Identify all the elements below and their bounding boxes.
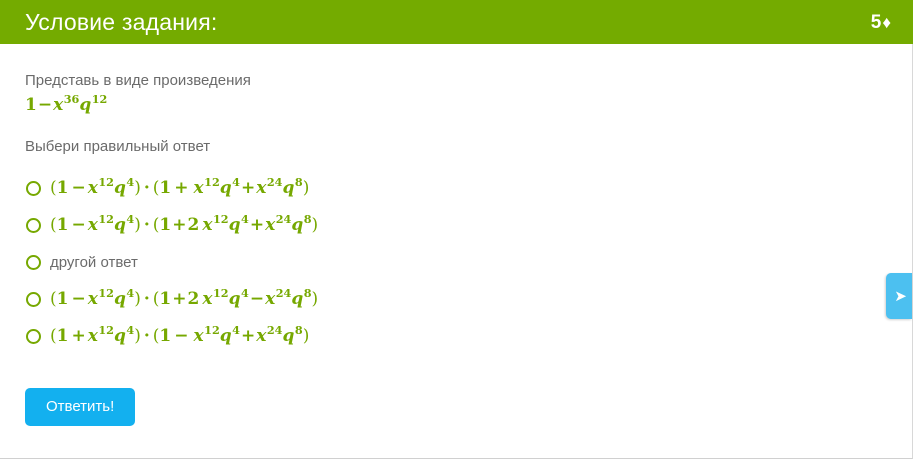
option-3-label: другой ответ — [50, 255, 138, 270]
submit-answer-button[interactable]: Ответить! — [25, 388, 135, 426]
o5-s-one: 1 — [159, 326, 171, 346]
o2-s-one: 1 — [159, 215, 171, 235]
o1-f-x-exp: 12 — [98, 175, 114, 189]
o4-f-one: 1 — [57, 289, 69, 309]
o2-s-x2-exp: 24 — [276, 212, 292, 226]
o5-dot: · — [141, 326, 153, 346]
o1-s-x1: x — [194, 178, 204, 198]
o2-s-x2: x — [265, 215, 275, 235]
o4-s-x1-exp: 12 — [213, 286, 229, 300]
answer-instruction: Выбери правильный ответ — [25, 136, 888, 158]
o2-s-coef: 2 — [188, 215, 203, 235]
o4-f-x-exp: 12 — [98, 286, 114, 300]
o4-f-q: q — [114, 289, 126, 309]
o4-s-q1: q — [229, 289, 241, 309]
o2-dot: · — [141, 215, 153, 235]
o2-f-one: 1 — [57, 215, 69, 235]
page-title: Условие задания: — [25, 11, 217, 34]
task-header-bar: Условие задания: 5♦ — [0, 0, 913, 44]
o2-s-q2: q — [291, 215, 303, 235]
o1-s-x2: x — [256, 178, 266, 198]
o4-s-coef: 2 — [188, 289, 203, 309]
o5-s-sign1: − — [171, 326, 190, 346]
arrow-right-icon: ➤ — [894, 289, 907, 304]
o2-s-x1: x — [202, 215, 212, 235]
answer-options-list: (1−x12q4)·(1+x12q4+x24q8) (1−x12q4)·(1+2… — [25, 170, 888, 354]
o2-f-sign: − — [68, 215, 87, 235]
o4-f-sign: − — [68, 289, 87, 309]
o1-s-q1: q — [220, 178, 232, 198]
o1-s-q2: q — [282, 178, 294, 198]
statement-minus: − — [37, 95, 53, 115]
o4-s-sign2: − — [249, 289, 265, 309]
score-value: 5 — [871, 12, 882, 33]
o5-s-q2-exp: 8 — [295, 323, 303, 337]
radio-button-icon[interactable] — [26, 292, 41, 307]
o2-s-q1-exp: 4 — [241, 212, 249, 226]
o4-dot: · — [141, 289, 153, 309]
o1-s-q1-exp: 4 — [232, 175, 240, 189]
o4-s-x2: x — [265, 289, 275, 309]
o4-s-sign1: + — [171, 289, 187, 309]
o2-s-sign1: + — [171, 215, 187, 235]
option-4-formula: (1−x12q4)·(1+2x12q4−x24q8) — [50, 290, 318, 309]
answer-option-5[interactable]: (1+x12q4)·(1−x12q4+x24q8) — [25, 318, 888, 354]
o2-s-sign2: + — [249, 215, 265, 235]
o1-f-sign: − — [68, 178, 87, 198]
o1-f-one: 1 — [57, 178, 69, 198]
task-prompt: Представь в виде произведения — [25, 70, 888, 92]
o2-s-q1: q — [229, 215, 241, 235]
o5-f-x: x — [88, 326, 98, 346]
radio-button-icon[interactable] — [26, 218, 41, 233]
diamond-icon: ♦ — [882, 13, 891, 32]
option-1-formula: (1−x12q4)·(1+x12q4+x24q8) — [50, 179, 309, 198]
o1-s-sign1: + — [171, 178, 190, 198]
o1-s-one: 1 — [159, 178, 171, 198]
o5-s-x1-exp: 12 — [204, 323, 220, 337]
o5-s-sign2: + — [240, 326, 256, 346]
option-2-formula: (1−x12q4)·(1+2x12q4+x24q8) — [50, 216, 318, 235]
o2-f-q: q — [114, 215, 126, 235]
o4-s-one: 1 — [159, 289, 171, 309]
answer-option-2[interactable]: (1−x12q4)·(1+2x12q4+x24q8) — [25, 207, 888, 243]
statement-x-exponent: 36 — [64, 92, 80, 106]
o1-s-x1-exp: 12 — [204, 175, 220, 189]
o5-s-x2-exp: 24 — [267, 323, 283, 337]
task-page: Условие задания: 5♦ Представь в виде про… — [0, 0, 913, 459]
o4-s-q2-exp: 8 — [304, 286, 312, 300]
o1-s-q2-exp: 8 — [295, 175, 303, 189]
o5-f-x-exp: 12 — [98, 323, 114, 337]
o5-f-q: q — [114, 326, 126, 346]
o2-f-x-exp: 12 — [98, 212, 114, 226]
option-5-formula: (1+x12q4)·(1−x12q4+x24q8) — [50, 327, 309, 346]
answer-option-1[interactable]: (1−x12q4)·(1+x12q4+x24q8) — [25, 170, 888, 206]
o5-s-x2: x — [256, 326, 266, 346]
o5-f-sign: + — [68, 326, 87, 346]
o4-f-x: x — [88, 289, 98, 309]
o5-s-q1: q — [220, 326, 232, 346]
o1-f-x: x — [88, 178, 98, 198]
o4-s-x1: x — [202, 289, 212, 309]
o1-s-sign2: + — [240, 178, 256, 198]
answer-option-3[interactable]: другой ответ — [25, 244, 888, 280]
radio-button-icon[interactable] — [26, 329, 41, 344]
answer-option-4[interactable]: (1−x12q4)·(1+2x12q4−x24q8) — [25, 281, 888, 317]
o1-dot: · — [141, 178, 153, 198]
radio-button-icon[interactable] — [26, 255, 41, 270]
radio-button-icon[interactable] — [26, 181, 41, 196]
o5-s-x1: x — [194, 326, 204, 346]
statement-x: x — [53, 95, 63, 115]
o5-s-q1-exp: 4 — [232, 323, 240, 337]
o1-f-q: q — [114, 178, 126, 198]
statement-one: 1 — [25, 95, 37, 115]
task-content: Представь в виде произведения 1−x36q12 В… — [0, 44, 913, 355]
o4-s-q1-exp: 4 — [241, 286, 249, 300]
o4-s-q2: q — [291, 289, 303, 309]
score-badge: 5♦ — [871, 13, 891, 32]
statement-q: q — [79, 95, 91, 115]
statement-q-exponent: 12 — [92, 92, 108, 106]
o4-s-x2-exp: 24 — [276, 286, 292, 300]
o2-f-x: x — [88, 215, 98, 235]
o5-s-q2: q — [282, 326, 294, 346]
o2-s-x1-exp: 12 — [213, 212, 229, 226]
o5-f-one: 1 — [57, 326, 69, 346]
o1-s-x2-exp: 24 — [267, 175, 283, 189]
o2-s-q2-exp: 8 — [304, 212, 312, 226]
side-panel-toggle-tab[interactable]: ➤ — [886, 273, 912, 319]
task-statement-formula: 1−x36q12 — [25, 96, 888, 115]
